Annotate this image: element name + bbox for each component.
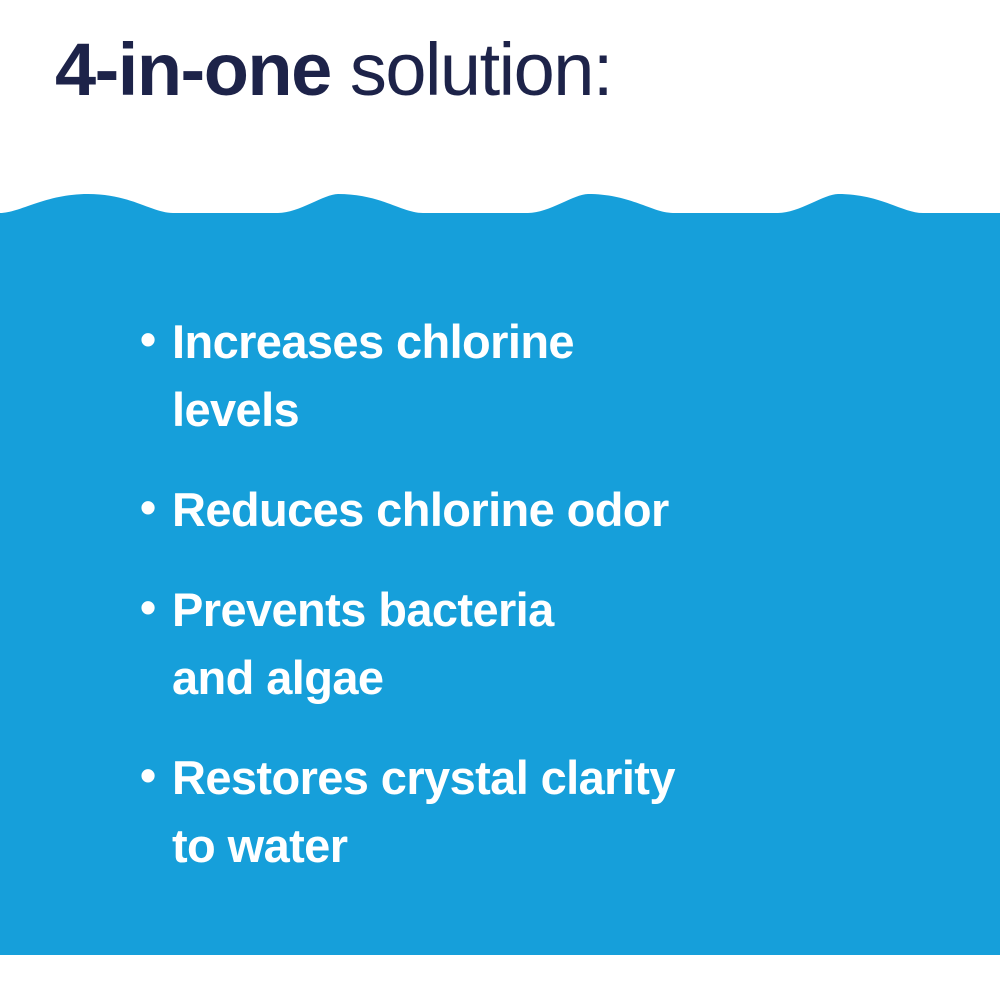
page-title-strong: 4-in-one bbox=[55, 28, 331, 111]
page-title: 4-in-one solution: bbox=[55, 33, 612, 107]
list-item-label: Prevents bacteria and algae bbox=[172, 576, 840, 712]
list-item: • Increases chlorine levels bbox=[140, 308, 840, 444]
bullet-point-icon: • bbox=[140, 744, 172, 806]
list-item: • Reduces chlorine odor bbox=[140, 476, 840, 544]
bullet-point-icon: • bbox=[140, 476, 172, 538]
benefits-list: • Increases chlorine levels • Reduces ch… bbox=[0, 180, 1000, 955]
product-benefits-graphic: 4-in-one solution: • Increases chlorine … bbox=[0, 0, 1000, 1000]
list-item-label: Reduces chlorine odor bbox=[172, 476, 840, 544]
bullet-point-icon: • bbox=[140, 308, 172, 370]
header-band: 4-in-one solution: bbox=[0, 0, 1000, 190]
list-item-label: Restores crystal clarity to water bbox=[172, 744, 840, 880]
list-item: • Prevents bacteria and algae bbox=[140, 576, 840, 712]
list-item-label: Increases chlorine levels bbox=[172, 308, 840, 444]
bullet-point-icon: • bbox=[140, 576, 172, 638]
list-item: • Restores crystal clarity to water bbox=[140, 744, 840, 880]
page-title-light: solution: bbox=[331, 28, 612, 111]
